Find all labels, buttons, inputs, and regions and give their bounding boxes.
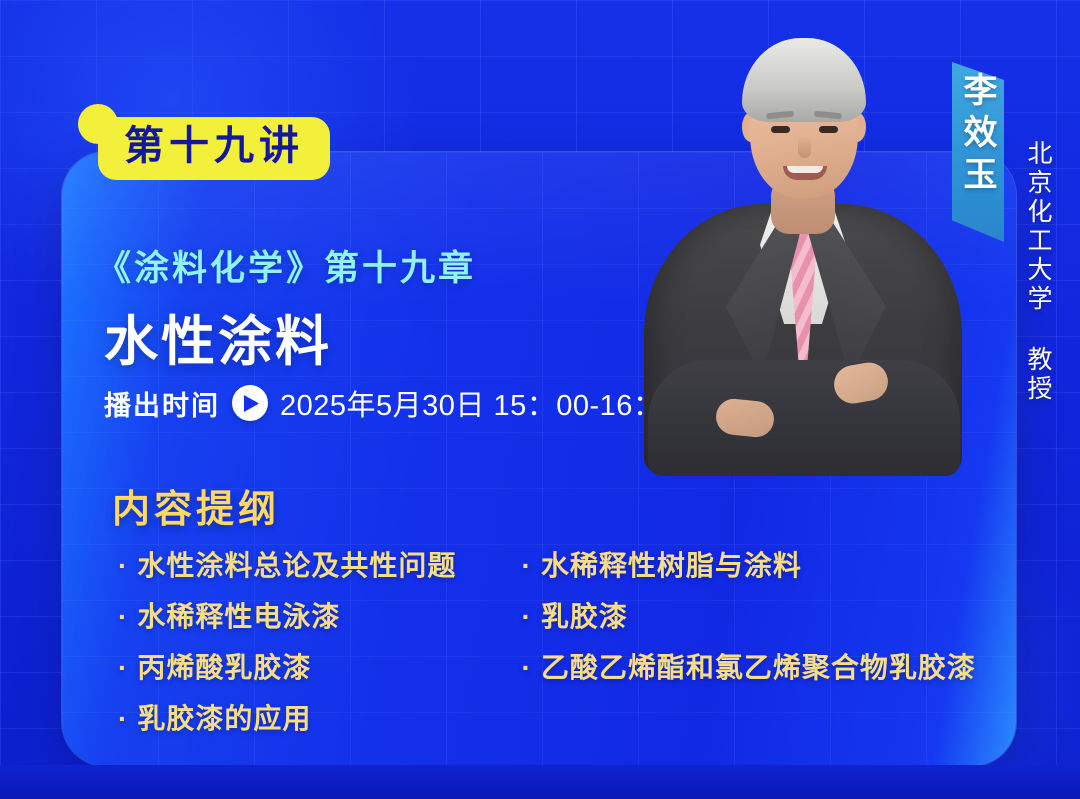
list-item: · 水稀释性电泳漆 bbox=[118, 599, 497, 634]
bullet-icon: · bbox=[521, 650, 531, 685]
bottom-band bbox=[0, 765, 1080, 799]
list-item-label: 水稀释性电泳漆 bbox=[137, 599, 340, 634]
poster-stage: 第十九讲 《涂料化学》第十九章 水性涂料 播出时间 2025年5月30日 15：… bbox=[0, 0, 1080, 799]
list-item: · 乳胶漆的应用 bbox=[118, 701, 497, 736]
airtime-label: 播出时间 bbox=[104, 384, 220, 423]
speaker-affiliation: 北京化工大学 教授 bbox=[1020, 140, 1056, 404]
bullet-icon: · bbox=[118, 548, 128, 583]
list-item-label: 水稀释性树脂与涂料 bbox=[541, 548, 802, 583]
lesson-badge-label: 第十九讲 bbox=[98, 117, 330, 180]
outline-column-left: · 水性涂料总论及共性问题 · 水稀释性电泳漆 · 丙烯酸乳胶漆 · 乳胶漆的应… bbox=[118, 548, 497, 736]
bullet-icon: · bbox=[118, 650, 128, 685]
airtime-row: 播出时间 2025年5月30日 15：00-16：00 bbox=[104, 382, 696, 424]
outline-column-right: · 水稀释性树脂与涂料 · 乳胶漆 · 乙酸乙烯酯和氯乙烯聚合物乳胶漆 bbox=[521, 548, 1008, 736]
bullet-icon: · bbox=[118, 701, 128, 736]
list-item: · 丙烯酸乳胶漆 bbox=[118, 650, 497, 685]
list-item: · 水性涂料总论及共性问题 bbox=[118, 548, 497, 583]
speaker-name: 李效玉 bbox=[954, 72, 1002, 198]
play-icon[interactable] bbox=[232, 385, 268, 421]
airtime-value: 2025年5月30日 15：00-16：00 bbox=[280, 382, 696, 424]
list-item-label: 乳胶漆 bbox=[541, 599, 628, 634]
list-item: · 乙酸乙烯酯和氯乙烯聚合物乳胶漆 bbox=[521, 650, 1008, 685]
list-item-label: 乳胶漆的应用 bbox=[137, 701, 311, 736]
bullet-icon: · bbox=[521, 548, 531, 583]
outline-heading: 内容提纲 bbox=[112, 478, 280, 533]
page-title: 水性涂料 bbox=[104, 297, 332, 376]
course-subtitle: 《涂料化学》第十九章 bbox=[96, 240, 476, 291]
list-item: · 水稀释性树脂与涂料 bbox=[521, 548, 1008, 583]
list-item-label: 水性涂料总论及共性问题 bbox=[137, 548, 456, 583]
list-item: · 乳胶漆 bbox=[521, 599, 1008, 634]
list-item-label: 乙酸乙烯酯和氯乙烯聚合物乳胶漆 bbox=[541, 650, 976, 685]
lesson-badge: 第十九讲 bbox=[78, 104, 330, 180]
outline-columns: · 水性涂料总论及共性问题 · 水稀释性电泳漆 · 丙烯酸乳胶漆 · 乳胶漆的应… bbox=[118, 548, 1008, 736]
bullet-icon: · bbox=[118, 599, 128, 634]
list-item-label: 丙烯酸乳胶漆 bbox=[137, 650, 311, 685]
bullet-icon: · bbox=[521, 599, 531, 634]
